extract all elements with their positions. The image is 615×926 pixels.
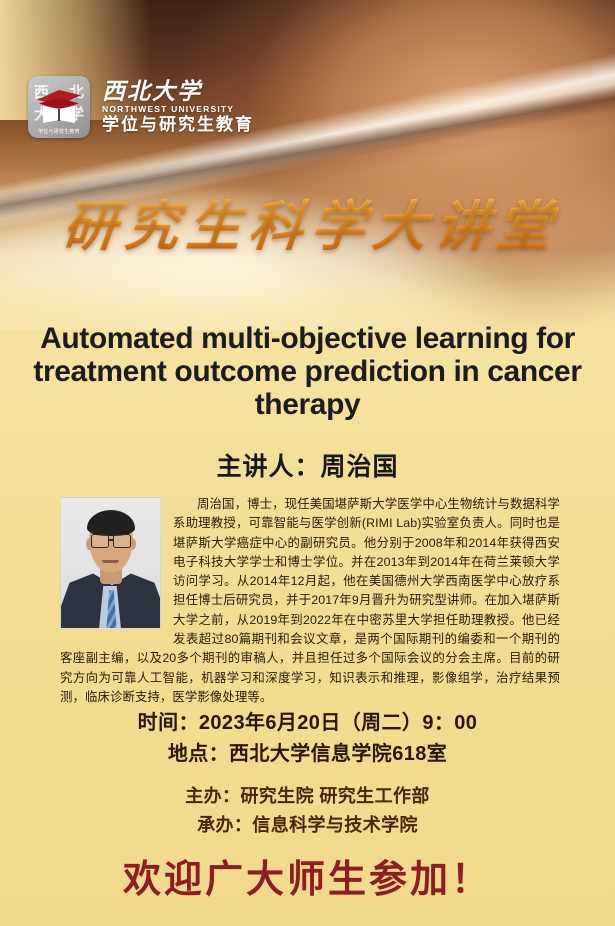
event-location-line: 地点：西北大学信息学院618室 <box>0 739 615 770</box>
university-name-cn: 西北大学 <box>102 80 254 103</box>
series-calligraphy-title: 研究生科学大讲堂 <box>0 182 615 261</box>
book-stem-icon <box>58 109 60 121</box>
speaker-portrait-photo <box>60 497 161 629</box>
organizer-host-line: 主办：研究生院 研究生工作部 <box>0 782 615 811</box>
portrait-hair <box>87 510 135 536</box>
organizer-details: 主办：研究生院 研究生工作部 承办：信息科学与技术学院 <box>0 782 615 840</box>
university-name-en: NORTHWEST UNIVERSITY <box>102 105 254 114</box>
event-details: 时间：2023年6月20日（周二）9：00 地点：西北大学信息学院618室 <box>0 708 615 770</box>
badge-subtitle: 学位与研究生教育 <box>28 128 90 135</box>
university-logo-header: 西 北 大 学 学位与研究生教育 西北大学 NORTHWEST UNIVERSI… <box>28 76 254 138</box>
poster-root: 西 北 大 学 学位与研究生教育 西北大学 NORTHWEST UNIVERSI… <box>0 0 615 926</box>
welcome-call-to-action: 欢迎广大师生参加！ <box>0 848 615 903</box>
university-badge-icon: 西 北 大 学 学位与研究生教育 <box>28 76 90 138</box>
university-subtitle-cn: 学位与研究生教育 <box>102 117 254 134</box>
university-wordmark: 西北大学 NORTHWEST UNIVERSITY 学位与研究生教育 <box>102 80 254 134</box>
portrait-mouth <box>102 560 119 563</box>
portrait-glasses-icon <box>90 534 132 547</box>
talk-title-english: Automated multi-objective learning for t… <box>24 322 591 421</box>
speaker-bio-block: 周治国，博士，现任美国堪萨斯大学医学中心生物统计与数据科学系助理教授，可靠智能与… <box>60 495 560 707</box>
organizer-coorganizer-line: 承办：信息科学与技术学院 <box>0 811 615 840</box>
event-time-line: 时间：2023年6月20日（周二）9：00 <box>0 708 615 739</box>
speaker-line: 主讲人：周治国 <box>0 447 615 483</box>
